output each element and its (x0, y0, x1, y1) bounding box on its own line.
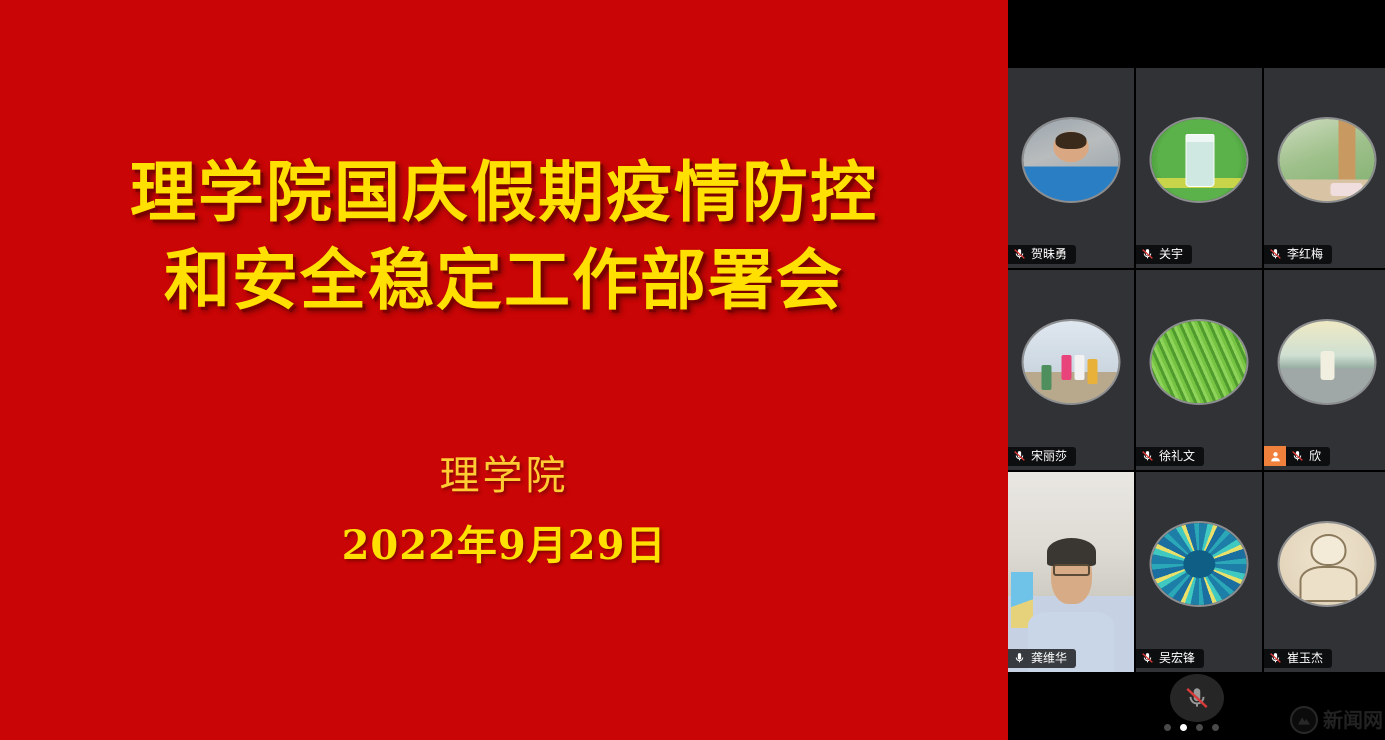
avatar (1024, 321, 1119, 403)
page-dot[interactable] (1212, 724, 1219, 731)
participant-name: 徐礼文 (1159, 449, 1195, 463)
participant-name: 龚维华 (1031, 651, 1067, 665)
participant-tile[interactable]: 李红梅 (1264, 68, 1385, 268)
person-icon (1269, 450, 1282, 463)
mic-muted-icon (1013, 449, 1026, 463)
participant-name-bar: 贺昧勇 (1008, 245, 1076, 264)
participant-name-bar: 欣 (1286, 447, 1330, 466)
video-feed (1008, 472, 1134, 672)
page-dot-active[interactable] (1180, 724, 1187, 731)
participant-tile[interactable]: 关宇 (1136, 68, 1262, 268)
participant-name-bar: 徐礼文 (1136, 447, 1204, 466)
host-badge (1264, 446, 1286, 466)
avatar (1279, 119, 1374, 201)
page-indicator-dots[interactable] (1164, 724, 1230, 731)
participant-tile[interactable]: 龚维华 (1008, 472, 1134, 672)
avatar (1279, 321, 1374, 403)
participant-name: 关宇 (1159, 247, 1183, 261)
participant-name-bar: 吴宏锋 (1136, 649, 1204, 668)
slide-subtitle: 理学院 (440, 452, 569, 500)
watermark: 新闻网 (1290, 706, 1383, 734)
page-dot[interactable] (1196, 724, 1203, 731)
mic-muted-icon (1141, 651, 1154, 665)
participant-filmstrip: 贺昧勇 关宇 李红梅 (1008, 0, 1385, 740)
participant-name: 欣 (1309, 449, 1321, 463)
slide-title: 理学院国庆假期疫情防控 和安全稳定工作部署会 (54, 148, 954, 324)
participant-tile[interactable]: 贺昧勇 (1008, 68, 1134, 268)
mic-muted-icon (1291, 449, 1304, 463)
mic-muted-icon (1269, 651, 1282, 665)
filmstrip-controls: 新闻网 (1008, 672, 1385, 740)
participant-tile[interactable]: 徐礼文 (1136, 270, 1262, 470)
filmstrip-topbar (1008, 0, 1385, 68)
avatar (1152, 523, 1247, 605)
watermark-text: 新闻网 (1323, 709, 1383, 731)
avatar (1279, 523, 1374, 605)
mic-on-icon (1013, 651, 1026, 665)
avatar (1024, 119, 1119, 201)
slide-date: 2022年9月29日 (342, 522, 667, 570)
participant-name-bar: 崔玉杰 (1264, 649, 1332, 668)
participant-tile[interactable]: 宋丽莎 (1008, 270, 1134, 470)
meeting-screen: 理学院国庆假期疫情防控 和安全稳定工作部署会 理学院 2022年9月29日 贺昧… (0, 0, 1385, 740)
participant-tile[interactable]: 崔玉杰 (1264, 472, 1385, 672)
participant-name: 李红梅 (1287, 247, 1323, 261)
mic-muted-icon (1013, 247, 1026, 261)
mountain-seal-icon (1290, 706, 1318, 734)
participant-name: 崔玉杰 (1287, 651, 1323, 665)
mic-mute-toggle-button[interactable] (1170, 674, 1224, 722)
mic-muted-icon (1184, 684, 1210, 712)
participant-tile-grid: 贺昧勇 关宇 李红梅 (1008, 68, 1385, 672)
mic-muted-icon (1269, 247, 1282, 261)
mic-muted-icon (1141, 247, 1154, 261)
avatar (1152, 321, 1247, 403)
page-dot[interactable] (1164, 724, 1171, 731)
participant-tile[interactable]: 吴宏锋 (1136, 472, 1262, 672)
shared-slide: 理学院国庆假期疫情防控 和安全稳定工作部署会 理学院 2022年9月29日 (0, 0, 1008, 740)
participant-name: 宋丽莎 (1031, 449, 1067, 463)
participant-name-bar: 宋丽莎 (1008, 447, 1076, 466)
participant-name-bar: 李红梅 (1264, 245, 1332, 264)
participant-name: 吴宏锋 (1159, 651, 1195, 665)
mic-muted-icon (1141, 449, 1154, 463)
participant-tile[interactable]: 欣 (1264, 270, 1385, 470)
participant-name-bar: 龚维华 (1008, 649, 1076, 668)
participant-name-bar: 关宇 (1136, 245, 1192, 264)
participant-name: 贺昧勇 (1031, 247, 1067, 261)
avatar (1152, 119, 1247, 201)
